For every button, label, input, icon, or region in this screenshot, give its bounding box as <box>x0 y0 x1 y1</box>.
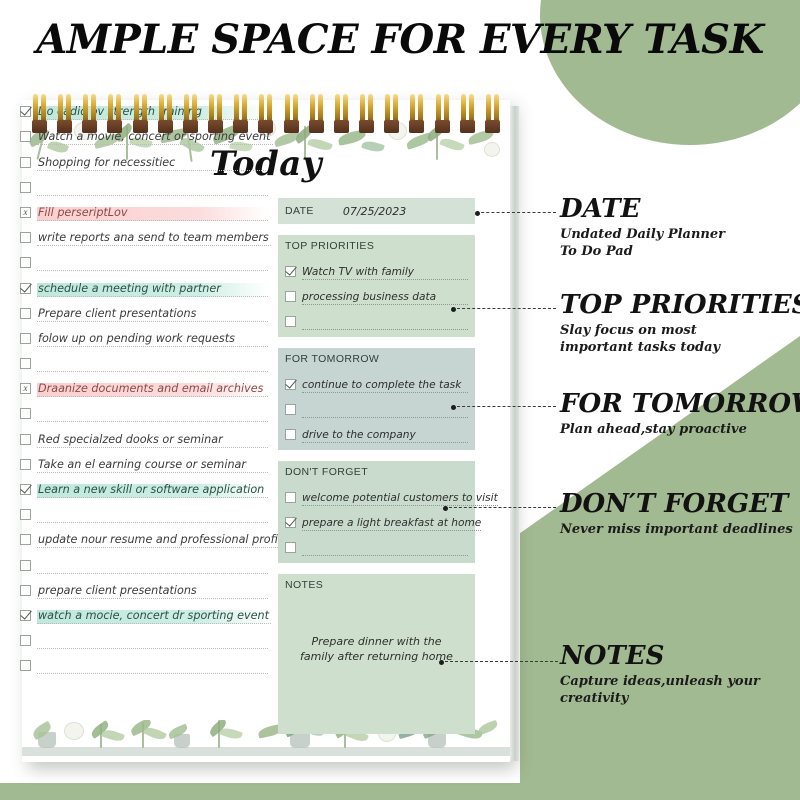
leader-line-top-priorities <box>452 308 556 309</box>
callout-top-priorities-sub2: important tasks today <box>560 339 800 356</box>
callout-dont-forget-sub1: Never miss important deadlines <box>560 521 793 538</box>
callout-top-priorities-title: TOP PRIORITIES <box>560 291 800 319</box>
callout-notes-sub1: Capture ideas,unleash your <box>560 673 760 690</box>
spiral-coil <box>233 94 248 132</box>
spiral-coil <box>208 94 223 132</box>
spiral-coil <box>183 94 198 132</box>
spiral-coil <box>309 94 324 132</box>
callout-date-sub2: To Do Pad <box>560 243 725 260</box>
callout-top-priorities-sub1: Slay focus on most <box>560 322 800 339</box>
spiral-coil <box>258 94 273 132</box>
spiral-coil <box>158 94 173 132</box>
spiral-coil <box>32 94 47 132</box>
callout-notes: NOTES Capture ideas,unleash your creativ… <box>560 642 760 707</box>
callout-for-tomorrow: FOR TOMORROW Plan ahead,stay proactive <box>560 390 800 438</box>
spiral-binding <box>22 94 510 134</box>
callout-for-tomorrow-title: FOR TOMORROW <box>560 390 800 418</box>
spiral-coil <box>460 94 475 132</box>
spiral-coil <box>82 94 97 132</box>
callout-for-tomorrow-sub1: Plan ahead,stay proactive <box>560 421 800 438</box>
leader-line-notes <box>440 661 558 662</box>
spiral-coil <box>284 94 299 132</box>
callout-date-sub1: Undated Daily Planner <box>560 226 725 243</box>
spiral-coil <box>384 94 399 132</box>
callout-top-priorities: TOP PRIORITIES Slay focus on most import… <box>560 291 800 356</box>
spiral-coil <box>485 94 500 132</box>
callout-notes-title: NOTES <box>560 642 760 670</box>
leader-line-date <box>476 212 556 213</box>
callout-dont-forget: DON′T FORGET Never miss important deadli… <box>560 490 793 538</box>
spiral-coil <box>57 94 72 132</box>
spiral-coil <box>133 94 148 132</box>
callout-notes-sub2: creativity <box>560 690 760 707</box>
callout-date-title: DATE <box>560 195 725 223</box>
callout-dont-forget-title: DON′T FORGET <box>560 490 793 518</box>
spiral-coil <box>359 94 374 132</box>
spiral-coil <box>107 94 122 132</box>
callout-date: DATE Undated Daily Planner To Do Pad <box>560 195 725 260</box>
spiral-coil <box>334 94 349 132</box>
spiral-coil <box>435 94 450 132</box>
page-headline: AMPLE SPACE FOR EVERY TASK <box>0 16 800 63</box>
spiral-coil <box>409 94 424 132</box>
leader-line-for-tomorrow <box>452 406 556 407</box>
leader-line-dont-forget <box>444 507 556 508</box>
